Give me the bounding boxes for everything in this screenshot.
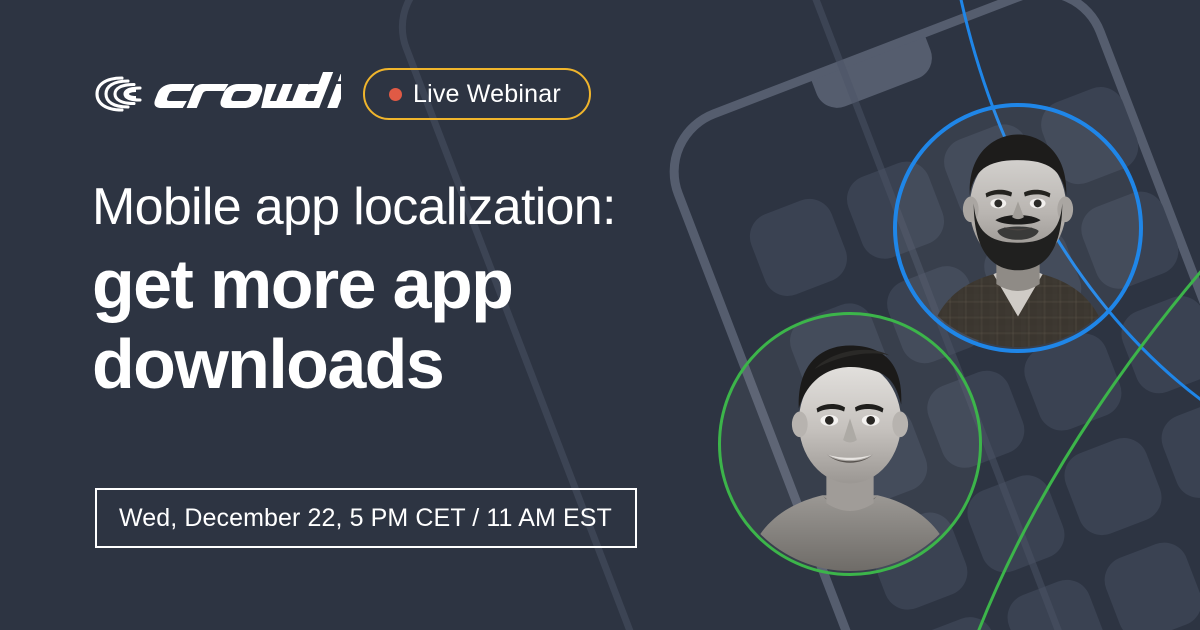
schedule-text: Wed, December 22, 5 PM CET / 11 AM EST xyxy=(97,504,612,533)
title-line-3: downloads xyxy=(92,324,616,404)
title-line-1: Mobile app localization: xyxy=(92,176,616,238)
speaker-photo-bottom xyxy=(720,314,980,574)
crowdin-logo[interactable] xyxy=(92,72,341,116)
avatar-disc-bottom xyxy=(720,314,980,574)
speaker-avatar-bottom xyxy=(718,312,982,576)
title-line-2: get more app xyxy=(92,244,616,324)
webinar-banner: Live Webinar Mobile app localization: ge… xyxy=(0,0,1200,630)
live-webinar-badge[interactable]: Live Webinar xyxy=(363,68,591,120)
schedule-box: Wed, December 22, 5 PM CET / 11 AM EST xyxy=(95,488,637,548)
page-title: Mobile app localization: get more app do… xyxy=(92,176,616,404)
crowdin-wordmark xyxy=(153,72,341,116)
live-dot-icon xyxy=(389,88,402,101)
crowdin-swoosh-emblem-icon xyxy=(92,73,144,115)
header-row: Live Webinar xyxy=(92,68,591,120)
live-webinar-label: Live Webinar xyxy=(413,80,561,109)
